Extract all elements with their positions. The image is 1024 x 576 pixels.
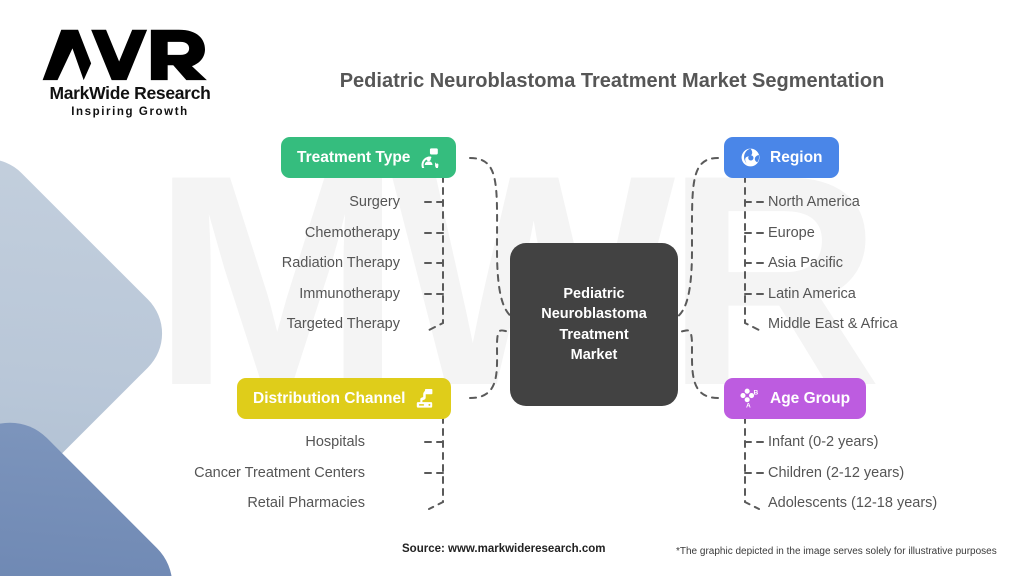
- category-badge-distribution-channel[interactable]: Distribution Channel: [237, 378, 451, 419]
- item-list-region: North America Europe Asia Pacific Latin …: [768, 187, 1024, 340]
- svg-text:B: B: [754, 389, 759, 396]
- disclaimer-text: *The graphic depicted in the image serve…: [676, 546, 997, 557]
- list-item: Hospitals: [110, 427, 365, 458]
- center-line-1: Pediatric: [563, 286, 624, 302]
- center-line-2: Neuroblastoma: [541, 306, 647, 322]
- category-label-treatment-type: Treatment Type: [297, 149, 410, 167]
- ab-group-icon: B A: [740, 388, 761, 409]
- list-item: Surgery: [150, 187, 400, 218]
- center-line-4: Market: [571, 347, 618, 363]
- item-list-age-group: Infant (0-2 years) Children (2-12 years)…: [768, 427, 1024, 519]
- item-list-distribution-channel: Hospitals Cancer Treatment Centers Retai…: [110, 427, 365, 519]
- category-label-age-group: Age Group: [770, 390, 850, 408]
- list-item: Children (2-12 years): [768, 458, 1024, 489]
- category-label-distribution-channel: Distribution Channel: [253, 390, 405, 408]
- list-item: Asia Pacific: [768, 248, 1024, 279]
- patient-record-icon: [419, 147, 440, 168]
- list-item: Retail Pharmacies: [110, 488, 365, 519]
- list-item: Targeted Therapy: [150, 309, 400, 340]
- list-item: Immunotherapy: [150, 279, 400, 310]
- infographic-canvas: MWR MarkWide Research Inspiring Growth P…: [0, 0, 1024, 576]
- category-label-region: Region: [770, 149, 823, 167]
- list-item: North America: [768, 187, 1024, 218]
- center-line-3: Treatment: [559, 327, 628, 343]
- category-badge-age-group[interactable]: B A Age Group: [724, 378, 866, 419]
- list-item: Europe: [768, 218, 1024, 249]
- list-item: Adolescents (12-18 years): [768, 488, 1024, 519]
- source-text: Source: www.markwideresearch.com: [402, 543, 605, 555]
- list-item: Infant (0-2 years): [768, 427, 1024, 458]
- list-item: Radiation Therapy: [150, 248, 400, 279]
- svg-text:A: A: [746, 403, 751, 409]
- category-badge-treatment-type[interactable]: Treatment Type: [281, 137, 456, 178]
- item-list-treatment-type: Surgery Chemotherapy Radiation Therapy I…: [150, 187, 400, 340]
- list-item: Cancer Treatment Centers: [110, 458, 365, 489]
- list-item: Chemotherapy: [150, 218, 400, 249]
- globe-icon: [740, 147, 761, 168]
- list-item: Middle East & Africa: [768, 309, 1024, 340]
- delivery-icon: [414, 388, 435, 409]
- list-item: Latin America: [768, 279, 1024, 310]
- category-badge-region[interactable]: Region: [724, 137, 839, 178]
- center-node-label: Pediatric Neuroblastoma Treatment Market: [541, 284, 647, 366]
- center-node: Pediatric Neuroblastoma Treatment Market: [510, 243, 678, 406]
